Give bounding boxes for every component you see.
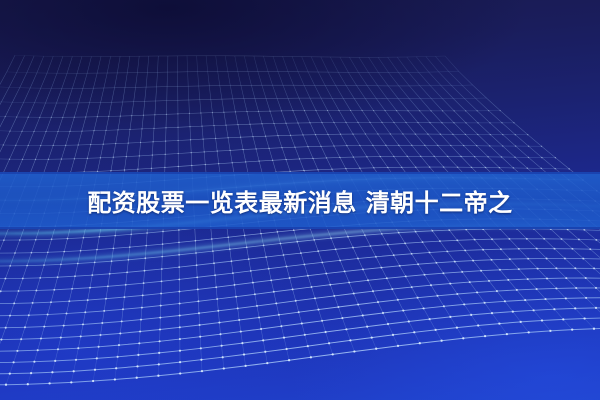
page-title: 配资股票一览表最新消息 清朝十二帝之 <box>0 172 600 229</box>
hero-image: 配资股票一览表最新消息 清朝十二帝之 <box>0 0 600 400</box>
